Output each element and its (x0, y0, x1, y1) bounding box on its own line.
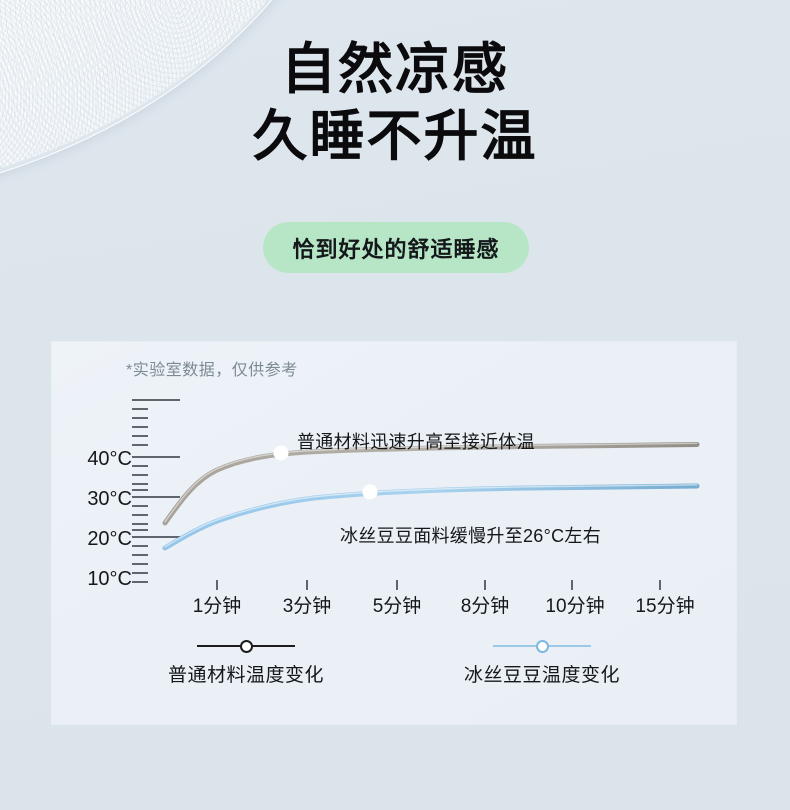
legend-marker-icon (536, 640, 549, 653)
legend-swatch-normal-material (197, 638, 295, 654)
legend-label-normal-material: 普通材料温度变化 (168, 660, 324, 687)
legend-label-ice-silk: 冰丝豆豆温度变化 (464, 660, 620, 687)
x-axis-label-10min: 10分钟 (545, 591, 604, 618)
x-axis-label-8min: 8分钟 (461, 591, 510, 618)
x-axis-label-1min: 1分钟 (193, 591, 242, 618)
x-axis-label-3min: 3分钟 (283, 591, 332, 618)
subtitle-badge: 恰到好处的舒适睡感 (263, 222, 529, 273)
legend-item-ice-silk[interactable]: 冰丝豆豆温度变化 (437, 638, 647, 708)
legend-marker-icon (240, 640, 253, 653)
promo-page: 自然凉感 久睡不升温 恰到好处的舒适睡感 *实验室数据，仅供参考 40°C 30… (0, 0, 790, 810)
data-point-normal-3min (274, 446, 289, 461)
x-axis-labels: 1分钟 3分钟 5分钟 8分钟 10分钟 15分钟 (52, 591, 736, 621)
headline-line-2: 久睡不升温 (0, 103, 790, 170)
headline-line-1: 自然凉感 (0, 36, 790, 103)
annotation-normal-material: 普通材料迅速升高至接近体温 (297, 428, 535, 454)
legend-swatch-ice-silk (493, 638, 591, 654)
page-title: 自然凉感 久睡不升温 (0, 36, 790, 170)
x-axis-label-15min: 15分钟 (635, 591, 694, 618)
y-axis-ticks (132, 400, 180, 582)
legend-item-normal-material[interactable]: 普通材料温度变化 (141, 638, 351, 708)
x-axis-label-5min: 5分钟 (373, 591, 422, 618)
subtitle-badge-label: 恰到好处的舒适睡感 (292, 232, 499, 264)
annotation-ice-silk: 冰丝豆豆面料缓慢升至26°C左右 (340, 522, 601, 548)
data-point-ice-5min (363, 485, 378, 500)
